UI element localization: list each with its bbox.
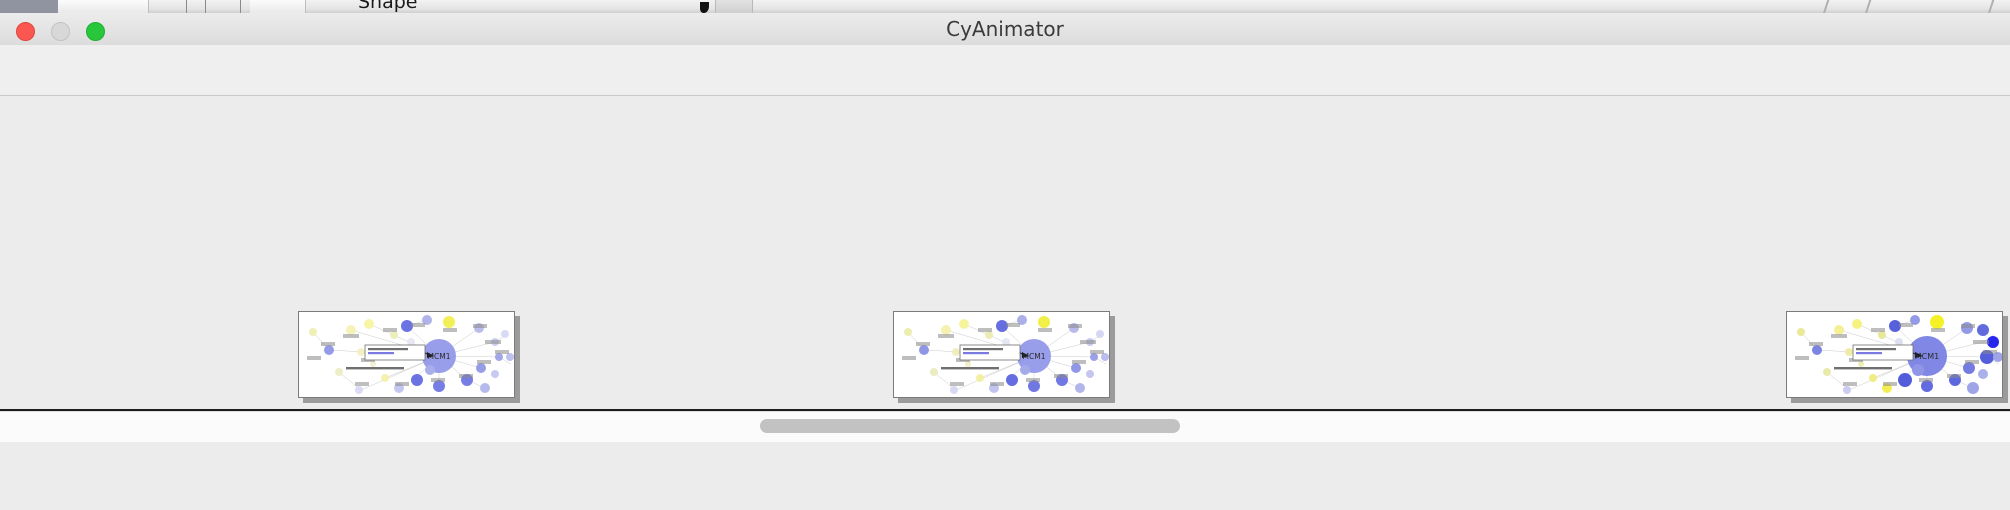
- svg-text:MCM1: MCM1: [1023, 352, 1046, 361]
- network-thumbnail: MCM1: [1786, 311, 2003, 398]
- timeline-panel[interactable]: MCM1: [0, 96, 2010, 411]
- window-titlebar[interactable]: CyAnimator: [0, 13, 2010, 46]
- horizontal-scrollbar-thumb[interactable]: [760, 419, 1180, 433]
- cyanimator-window: Shape CyAnimator +: [0, 0, 2010, 510]
- background-slash: [1985, 0, 1997, 13]
- timeline-frame-thumbnail[interactable]: MCM1: [1786, 311, 2008, 403]
- timeline-frame-thumbnail[interactable]: MCM1: [893, 311, 1115, 403]
- background-selection: [0, 0, 58, 13]
- background-divider: [205, 0, 206, 13]
- background-cursor-mark: [700, 2, 709, 13]
- playback-control-bar: Animation Speed:: [0, 442, 2010, 510]
- background-slash: [1820, 0, 1832, 13]
- background-tab: [58, 0, 149, 13]
- window-title: CyAnimator: [0, 13, 2010, 45]
- svg-text:MCM1: MCM1: [428, 352, 451, 361]
- background-app-label: Shape: [358, 0, 418, 13]
- network-thumbnail: MCM1: [298, 311, 515, 398]
- background-tab: [250, 0, 306, 13]
- background-button: [715, 0, 753, 13]
- background-divider: [186, 0, 187, 13]
- network-thumbnail: MCM1: [893, 311, 1110, 398]
- background-divider: [240, 0, 241, 13]
- background-app-strip: Shape: [0, 0, 2010, 13]
- timeline-frame-thumbnail[interactable]: MCM1: [298, 311, 520, 403]
- background-slash: [1862, 0, 1874, 13]
- svg-text:MCM1: MCM1: [1915, 352, 1939, 361]
- frame-toolbar: + Clear All Frames: [0, 45, 2010, 96]
